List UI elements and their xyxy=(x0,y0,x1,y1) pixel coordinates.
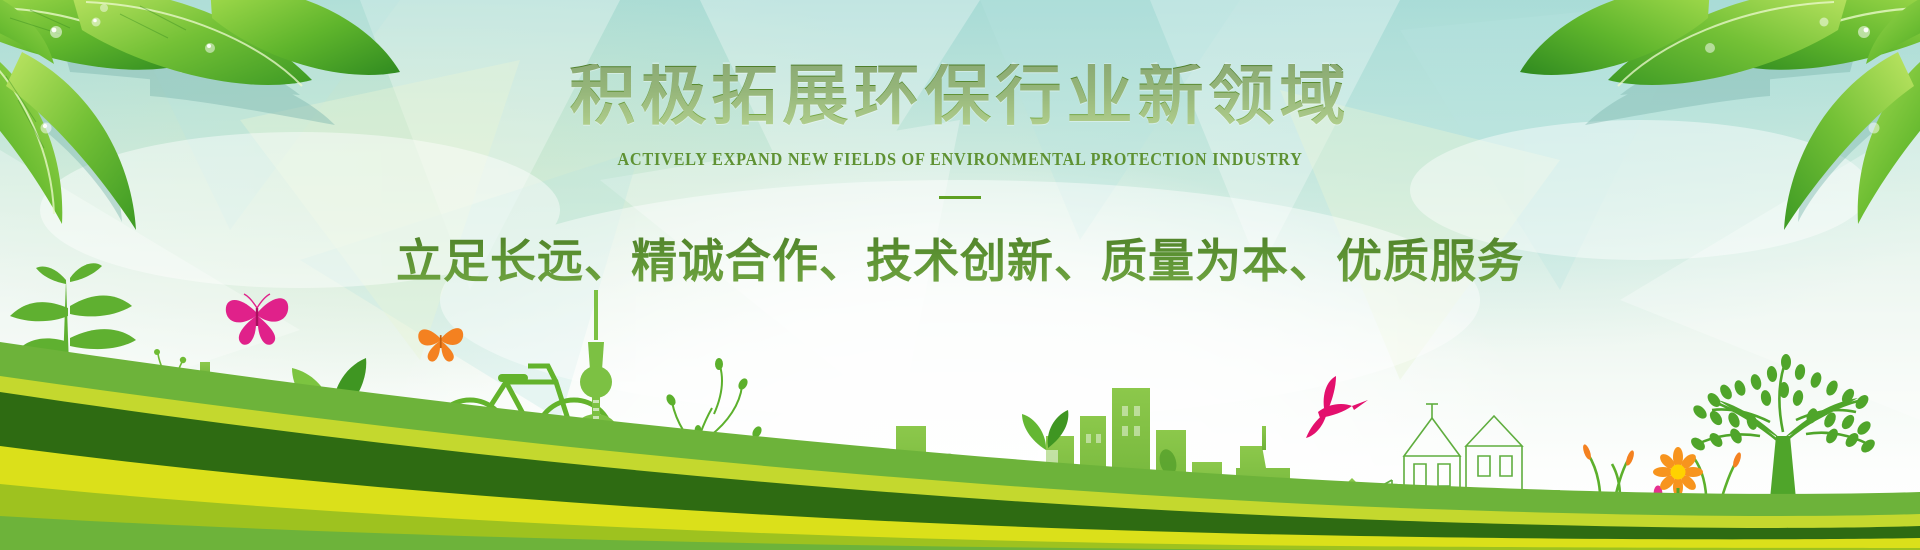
page-title: 积极拓展环保行业新领域 xyxy=(0,64,1920,130)
tagline: 立足长远、精诚合作、技术创新、质量为本、优质服务 xyxy=(0,225,1920,291)
title-divider xyxy=(939,196,981,199)
subtitle-english: ACTIVELY EXPAND NEW FIELDS OF ENVIRONMEN… xyxy=(67,149,1853,170)
ribbon-waves xyxy=(0,320,1920,550)
eco-banner: 积极拓展环保行业新领域 ACTIVELY EXPAND NEW FIELDS O… xyxy=(0,0,1920,550)
banner-text-block: 积极拓展环保行业新领域 ACTIVELY EXPAND NEW FIELDS O… xyxy=(0,64,1920,291)
